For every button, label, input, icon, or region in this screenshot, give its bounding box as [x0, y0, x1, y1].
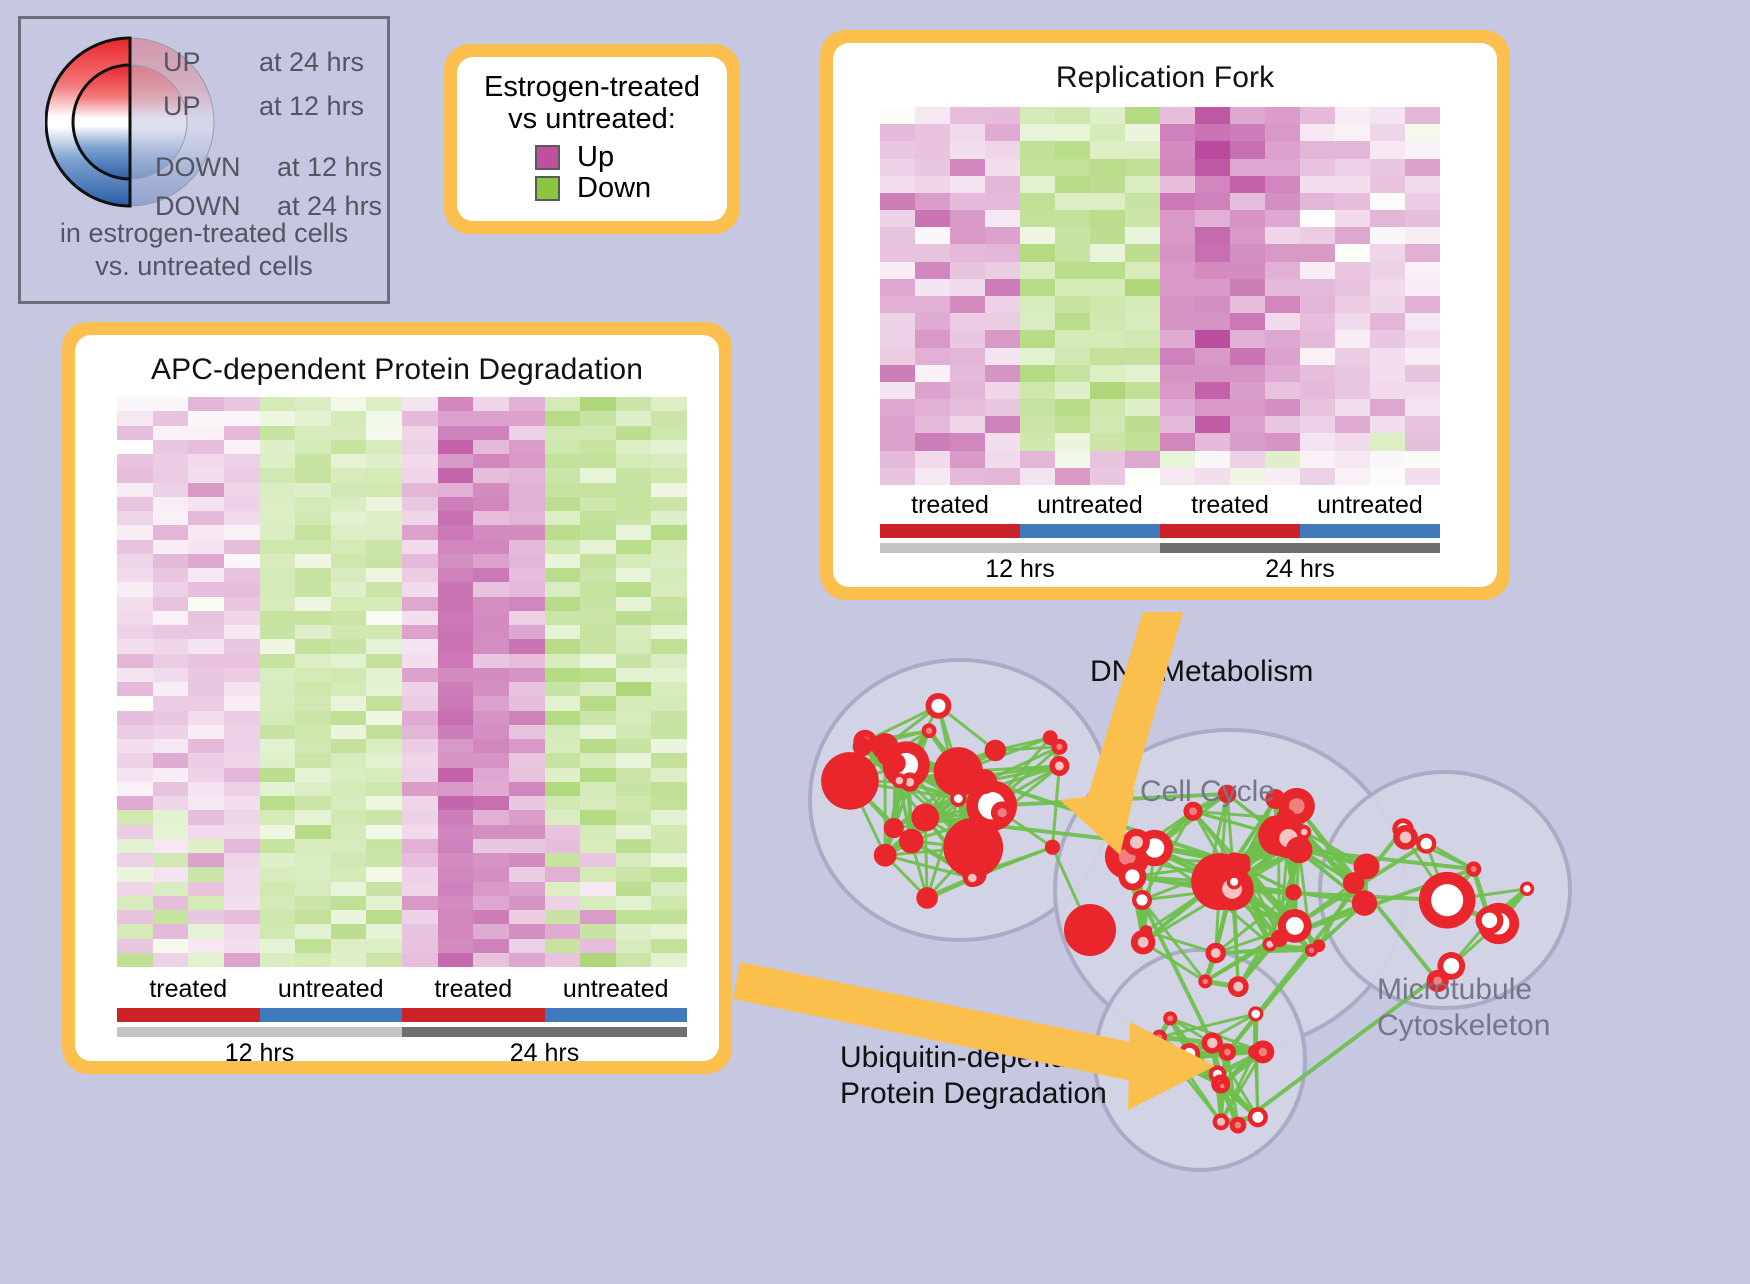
heatmap-cell [117, 468, 153, 482]
heatmap-cell [224, 839, 260, 853]
heatmap-cell [331, 882, 367, 896]
heatmap-cell [545, 682, 581, 696]
heatmap-cell [616, 910, 652, 924]
heatmap-cell [260, 582, 296, 596]
heatmap-cell [1230, 124, 1265, 141]
heatmap-cell [260, 511, 296, 525]
replication-fork-title: Replication Fork [833, 43, 1497, 95]
network-node [874, 844, 897, 867]
heatmap-cell [331, 939, 367, 953]
heatmap-cell [402, 910, 438, 924]
heatmap-cell [1265, 348, 1300, 365]
heatmap-cell [402, 511, 438, 525]
heatmap-cell [580, 696, 616, 710]
heatmap-cell [473, 540, 509, 554]
heatmap-cell [1160, 330, 1195, 347]
heatmap-cell [366, 882, 402, 896]
heatmap-cell [438, 924, 474, 938]
heatmap-cell [509, 924, 545, 938]
heatmap-cell [915, 399, 950, 416]
heatmap-cell [224, 597, 260, 611]
heatmap-cell [295, 654, 331, 668]
heatmap-cell [153, 397, 189, 411]
heatmap-cell [1160, 416, 1195, 433]
heatmap-cell [1055, 365, 1090, 382]
heatmap-cell [1265, 107, 1300, 124]
heatmap-cell [153, 440, 189, 454]
heatmap-cell [950, 244, 985, 261]
heatmap-cell [402, 725, 438, 739]
heatmap-cell [331, 753, 367, 767]
heatmap-cell [616, 554, 652, 568]
network-node-core [1224, 1049, 1231, 1056]
heatmap-cell [1335, 210, 1370, 227]
heatmap-cell [1090, 176, 1125, 193]
heatmap-cell [402, 682, 438, 696]
heatmap-cell [224, 953, 260, 967]
heatmap-cell [153, 611, 189, 625]
heatmap-cell [117, 939, 153, 953]
heatmap-cell [473, 654, 509, 668]
heatmap-cell [1405, 348, 1440, 365]
heatmap-cell [1020, 365, 1055, 382]
heatmap-cell [438, 668, 474, 682]
heatmap-cell [188, 568, 224, 582]
heatmap-cell [224, 540, 260, 554]
heatmap-cell [438, 725, 474, 739]
heatmap-cell [438, 639, 474, 653]
heatmap-cell [880, 159, 915, 176]
heatmap-cell [1090, 433, 1125, 450]
heatmap-cell [188, 939, 224, 953]
heatmap-cell [295, 497, 331, 511]
heatmap-cell [117, 839, 153, 853]
heatmap-cell [153, 454, 189, 468]
heatmap-cell [331, 440, 367, 454]
network-node-core [1055, 761, 1064, 770]
heatmap-cell [1300, 227, 1335, 244]
heatmap-cell [1160, 451, 1195, 468]
heatmap-cell [473, 568, 509, 582]
heatmap-cell [117, 454, 153, 468]
heatmap-cell [509, 440, 545, 454]
treatment-segment-2 [1160, 524, 1300, 538]
heatmap-cell [188, 654, 224, 668]
heatmap-cell [438, 882, 474, 896]
heatmap-cell [580, 525, 616, 539]
heatmap-cell [616, 611, 652, 625]
heatmap-cell [153, 483, 189, 497]
heatmap-cell [1020, 399, 1055, 416]
heatmap-cell [331, 796, 367, 810]
heatmap-cell [651, 939, 687, 953]
replication-fork-treatment-bar [880, 524, 1440, 538]
heatmap-cell [509, 411, 545, 425]
heatmap-cell [1405, 279, 1440, 296]
heatmap-cell [224, 611, 260, 625]
heatmap-cell [1020, 451, 1055, 468]
heatmap-cell [1055, 244, 1090, 261]
heatmap-cell [188, 468, 224, 482]
heatmap-cell [1020, 159, 1055, 176]
heatmap-cell [1020, 313, 1055, 330]
heatmap-cell [366, 411, 402, 425]
apc-time-labels: 12 hrs24 hrs [117, 1039, 687, 1068]
heatmap-cell [438, 554, 474, 568]
heatmap-cell [331, 924, 367, 938]
heatmap-cell [117, 654, 153, 668]
heatmap-cell [880, 124, 915, 141]
heatmap-cell [1265, 365, 1300, 382]
heatmap-cell [295, 568, 331, 582]
heatmap-cell [295, 882, 331, 896]
heatmap-cell [366, 440, 402, 454]
heatmap-cell [1300, 468, 1335, 485]
heatmap-cell [1300, 210, 1335, 227]
heatmap-cell [188, 625, 224, 639]
apc-degradation-panel: APC-dependent Protein Degradation treate… [62, 322, 732, 1074]
heatmap-cell [580, 582, 616, 596]
heatmap-cell [985, 313, 1020, 330]
heatmap-cell [616, 497, 652, 511]
heatmap-cell [473, 426, 509, 440]
heatmap-cell [1125, 330, 1160, 347]
network-node [1286, 837, 1313, 864]
heatmap-cell [331, 668, 367, 682]
heatmap-cell [402, 525, 438, 539]
heatmap-cell [1160, 210, 1195, 227]
heatmap-cell [366, 753, 402, 767]
heatmap-cell [438, 753, 474, 767]
heatmap-cell [915, 433, 950, 450]
heatmap-cell [1125, 468, 1160, 485]
heatmap-cell [580, 839, 616, 853]
heatmap-cell [1195, 468, 1230, 485]
heatmap-cell [402, 397, 438, 411]
heatmap-cell [1230, 451, 1265, 468]
heatmap-cell [985, 348, 1020, 365]
heatmap-cell [1370, 348, 1405, 365]
heatmap-cell [651, 511, 687, 525]
key-row-0-label: UP [163, 47, 201, 78]
heatmap-cell [950, 330, 985, 347]
heatmap-cell [509, 696, 545, 710]
heatmap-cell [366, 768, 402, 782]
heatmap-cell [295, 426, 331, 440]
heatmap-cell [473, 825, 509, 839]
heatmap-cell [580, 725, 616, 739]
heatmap-cell [545, 939, 581, 953]
heatmap-cell [1195, 382, 1230, 399]
heatmap-cell [616, 782, 652, 796]
heatmap-cell [1195, 399, 1230, 416]
heatmap-cell [366, 939, 402, 953]
heatmap-cell [509, 668, 545, 682]
heatmap-cell [438, 853, 474, 867]
heatmap-cell [651, 796, 687, 810]
heatmap-cell [651, 782, 687, 796]
network-node-core [1156, 1034, 1162, 1040]
heatmap-cell [117, 725, 153, 739]
heatmap-cell [1125, 227, 1160, 244]
heatmap-cell [509, 525, 545, 539]
heatmap-cell [1230, 313, 1265, 330]
heatmap-cell [117, 910, 153, 924]
heatmap-cell [1335, 365, 1370, 382]
heatmap-cell [1090, 124, 1125, 141]
heatmap-cell [651, 682, 687, 696]
heatmap-cell [117, 739, 153, 753]
figure-canvas: UP at 24 hrs UP at 12 hrs DOWN at 12 hrs… [0, 0, 1750, 1279]
replication-fork-time-bar [880, 543, 1440, 553]
heatmap-cell [153, 568, 189, 582]
heatmap-cell [473, 711, 509, 725]
heatmap-cell [985, 433, 1020, 450]
heatmap-cell [915, 244, 950, 261]
heatmap-cell [402, 939, 438, 953]
network-node [911, 804, 939, 832]
heatmap-cell [1335, 279, 1370, 296]
heatmap-cell [915, 365, 950, 382]
heatmap-cell [224, 867, 260, 881]
heatmap-cell [402, 654, 438, 668]
heatmap-cell [402, 468, 438, 482]
heatmap-cell [915, 348, 950, 365]
heatmap-cell [651, 825, 687, 839]
heatmap-cell [616, 853, 652, 867]
heatmap-cell [651, 468, 687, 482]
heatmap-cell [1300, 416, 1335, 433]
heatmap-cell [117, 411, 153, 425]
heatmap-cell [1300, 176, 1335, 193]
heatmap-cell [224, 468, 260, 482]
heatmap-cell [1125, 176, 1160, 193]
network-node [1352, 890, 1377, 915]
heatmap-cell [117, 625, 153, 639]
heatmap-cell [1055, 296, 1090, 313]
heatmap-cell [188, 768, 224, 782]
network-node [985, 740, 1007, 762]
heatmap-cell [651, 668, 687, 682]
heatmap-cell [224, 668, 260, 682]
heatmap-cell [188, 825, 224, 839]
key-row-2-time: at 12 hrs [277, 152, 382, 183]
heatmap-cell [651, 497, 687, 511]
heatmap-cell [509, 554, 545, 568]
heatmap-cell [402, 639, 438, 653]
heatmap-cell [473, 882, 509, 896]
heatmap-cell [580, 454, 616, 468]
heatmap-cell [117, 682, 153, 696]
heatmap-cell [438, 525, 474, 539]
heatmap-cell [1335, 176, 1370, 193]
heatmap-cell [188, 440, 224, 454]
heatmap-cell [224, 910, 260, 924]
heatmap-cell [1300, 382, 1335, 399]
heatmap-cell [1265, 279, 1300, 296]
heatmap-cell [295, 839, 331, 853]
heatmap-cell [509, 725, 545, 739]
network-node-core [1203, 979, 1208, 984]
group-label-2: treated [1160, 491, 1300, 520]
network-node [1271, 930, 1288, 947]
heatmap-cell [1160, 107, 1195, 124]
heatmap-cell [295, 625, 331, 639]
heatmap-cell [260, 739, 296, 753]
heatmap-cell [153, 867, 189, 881]
heatmap-cell [880, 330, 915, 347]
heatmap-cell [402, 597, 438, 611]
heatmap-cell [545, 568, 581, 582]
heatmap-cell [580, 668, 616, 682]
heatmap-cell [616, 625, 652, 639]
heatmap-cell [580, 440, 616, 454]
heatmap-cell [188, 483, 224, 497]
heatmap-cell [260, 483, 296, 497]
heatmap-cell [1230, 141, 1265, 158]
heatmap-cell [616, 682, 652, 696]
key-row-0-time: at 24 hrs [259, 47, 364, 78]
apc-treatment-bar [117, 1008, 687, 1022]
heatmap-cell [153, 910, 189, 924]
network-node-core [1207, 1038, 1217, 1048]
heatmap-cell [1160, 193, 1195, 210]
network-node-core [1175, 1055, 1182, 1062]
heatmap-cell [616, 896, 652, 910]
group-label-2: treated [402, 975, 545, 1004]
heatmap-cell [473, 440, 509, 454]
heatmap-cell [1125, 296, 1160, 313]
heatmap-cell [402, 882, 438, 896]
heatmap-cell [117, 896, 153, 910]
heatmap-cell [402, 625, 438, 639]
heatmap-cell [1405, 159, 1440, 176]
heatmap-cell [950, 193, 985, 210]
heatmap-cell [915, 227, 950, 244]
heatmap-cell [153, 582, 189, 596]
heatmap-cell [438, 611, 474, 625]
heatmap-cell [473, 696, 509, 710]
heatmap-cell [545, 654, 581, 668]
heatmap-cell [224, 440, 260, 454]
heatmap-cell [985, 244, 1020, 261]
heatmap-cell [438, 582, 474, 596]
heatmap-cell [1335, 141, 1370, 158]
heatmap-cell [545, 554, 581, 568]
heatmap-cell [366, 454, 402, 468]
heatmap-cell [1055, 210, 1090, 227]
heatmap-cell [1405, 107, 1440, 124]
heatmap-cell [331, 468, 367, 482]
heatmap-cell [331, 853, 367, 867]
heatmap-cell [651, 554, 687, 568]
heatmap-cell [545, 768, 581, 782]
heatmap-cell [1370, 244, 1405, 261]
heatmap-cell [616, 753, 652, 767]
heatmap-cell [295, 953, 331, 967]
heatmap-cell [224, 782, 260, 796]
heatmap-cell [1405, 193, 1440, 210]
heatmap-cell [153, 639, 189, 653]
heatmap-cell [880, 210, 915, 227]
heatmap-cell [331, 639, 367, 653]
network-node-core [1217, 1118, 1225, 1126]
time-label-1: 24 hrs [402, 1039, 687, 1068]
heatmap-cell [950, 296, 985, 313]
heatmap-cell [438, 597, 474, 611]
heatmap-cell [616, 939, 652, 953]
heatmap-cell [295, 511, 331, 525]
heatmap-cell [985, 330, 1020, 347]
heatmap-cell [366, 810, 402, 824]
heatmap-cell [402, 611, 438, 625]
heatmap-cell [188, 682, 224, 696]
heatmap-cell [260, 711, 296, 725]
heatmap-cell [509, 739, 545, 753]
heatmap-cell [295, 611, 331, 625]
heatmap-cell [580, 782, 616, 796]
heatmap-cell [153, 739, 189, 753]
heatmap-cell [331, 597, 367, 611]
heatmap-cell [509, 839, 545, 853]
apc-degradation-title: APC-dependent Protein Degradation [75, 335, 719, 387]
legend-items: Up Down [457, 143, 727, 203]
heatmap-cell [224, 696, 260, 710]
heatmap-cell [366, 511, 402, 525]
heatmap-cell [331, 454, 367, 468]
heatmap-cell [153, 525, 189, 539]
heatmap-cell [366, 582, 402, 596]
heatmap-cell [1090, 468, 1125, 485]
heatmap-cell [915, 107, 950, 124]
heatmap-cell [509, 611, 545, 625]
heatmap-cell [331, 397, 367, 411]
network-node-core [1056, 744, 1062, 750]
heatmap-cell [260, 939, 296, 953]
heatmap-cell [366, 796, 402, 810]
heatmap-cell [1335, 330, 1370, 347]
heatmap-cell [1335, 433, 1370, 450]
heatmap-cell [331, 953, 367, 967]
heatmap-cell [651, 625, 687, 639]
heatmap-cell [1020, 468, 1055, 485]
heatmap-cell [331, 582, 367, 596]
heatmap-cell [1090, 159, 1125, 176]
heatmap-cell [509, 711, 545, 725]
heatmap-cell [509, 825, 545, 839]
heatmap-cell [509, 910, 545, 924]
heatmap-cell [616, 924, 652, 938]
heatmap-cell [153, 668, 189, 682]
heatmap-cell [331, 625, 367, 639]
heatmap-cell [402, 796, 438, 810]
heatmap-cell [915, 193, 950, 210]
heatmap-cell [1265, 124, 1300, 141]
heatmap-cell [402, 839, 438, 853]
apc-time-bar [117, 1027, 687, 1037]
heatmap-cell [915, 262, 950, 279]
time-segment-0 [117, 1027, 402, 1037]
heatmap-cell [473, 839, 509, 853]
heatmap-cell [1300, 159, 1335, 176]
heatmap-cell [117, 953, 153, 967]
color-key-box: UP at 24 hrs UP at 12 hrs DOWN at 12 hrs… [18, 16, 390, 304]
heatmap-cell [1230, 399, 1265, 416]
network-node-core [998, 808, 1007, 817]
heatmap-cell [616, 483, 652, 497]
heatmap-cell [580, 468, 616, 482]
heatmap-cell [915, 124, 950, 141]
